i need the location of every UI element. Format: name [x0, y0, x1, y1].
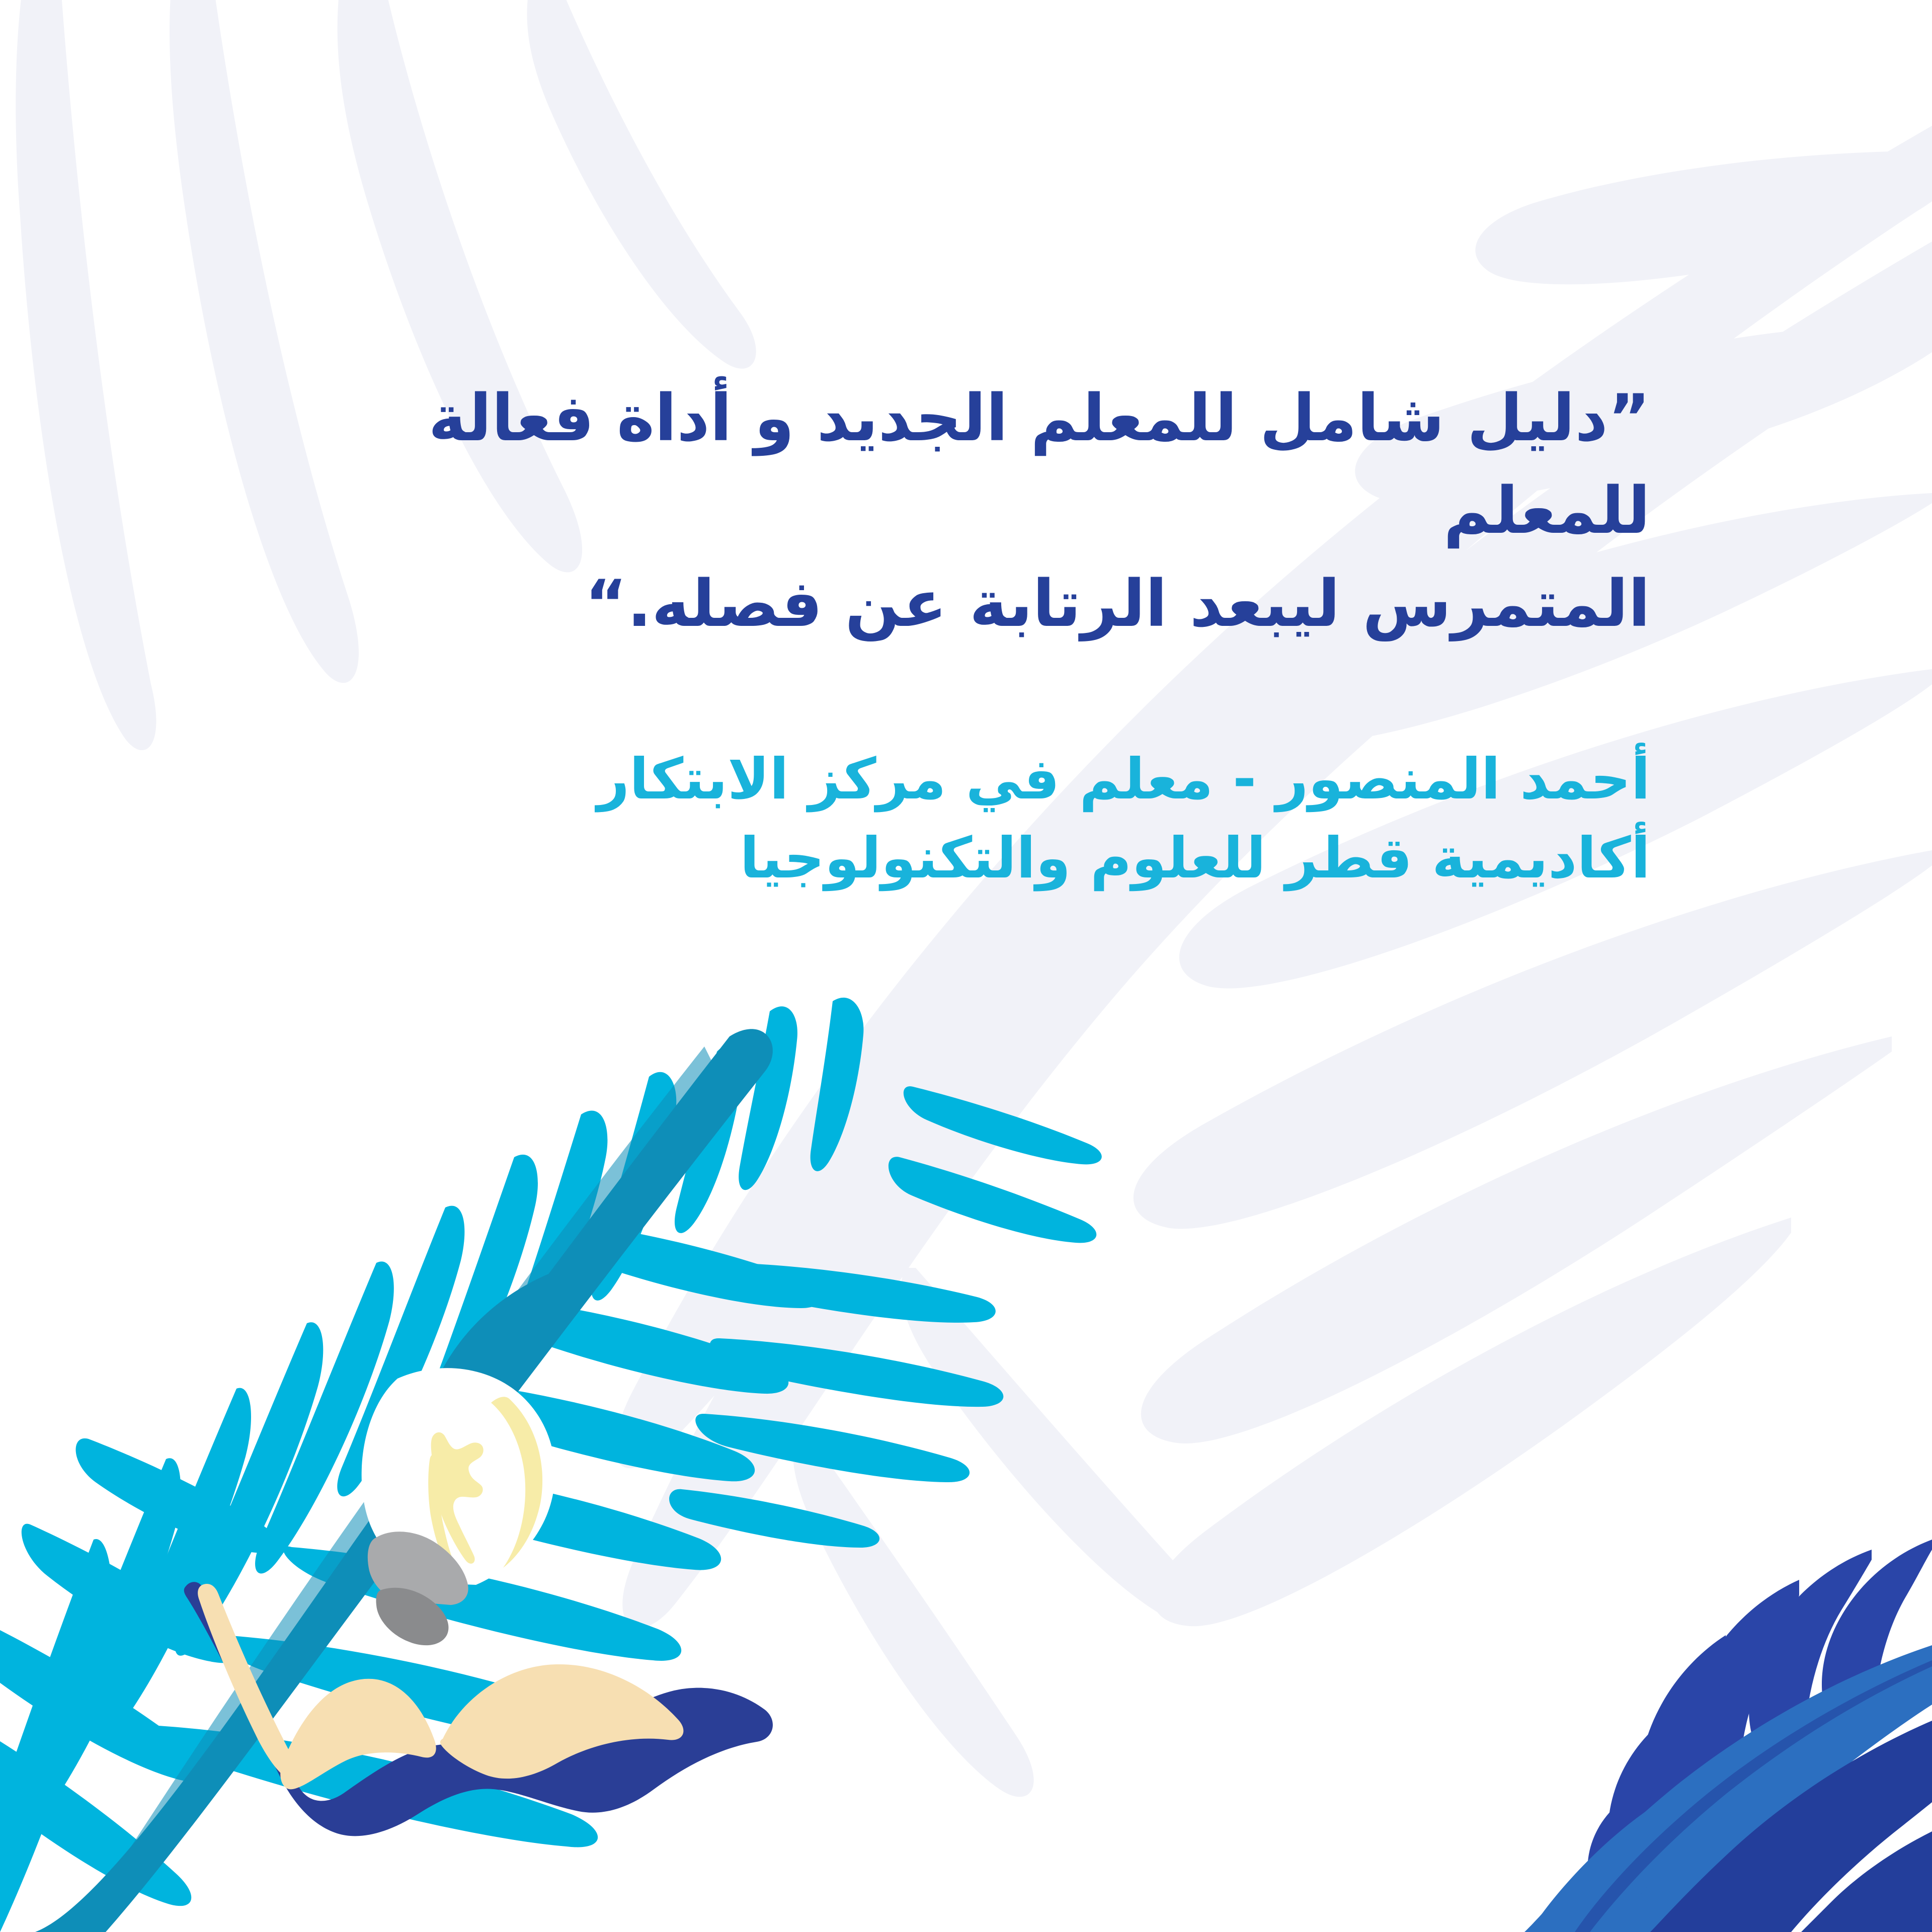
quill-stem: [35, 1029, 773, 1932]
quote-card: ”دليل شامل للمعلم الجديد و أداة فعالة لل…: [0, 0, 1932, 1932]
lightbulb-icon: [362, 1368, 555, 1645]
attribution-name-role: أحمد المنصور - معلم في مركز الابتكار: [231, 740, 1650, 819]
quote-content: ”دليل شامل للمعلم الجديد و أداة فعالة لل…: [231, 372, 1650, 898]
palm-leaf-blades: [0, 998, 1102, 1932]
quill-book-illustration: [0, 0, 1932, 1932]
background-watermark-layer: [0, 0, 1932, 1932]
quote-text: ”دليل شامل للمعلم الجديد و أداة فعالة لل…: [231, 372, 1650, 651]
corner-palm-frond: [0, 0, 1932, 1932]
attribution-block: أحمد المنصور - معلم في مركز الابتكار أكا…: [231, 740, 1650, 898]
attribution-organization: أكاديمية قطر للعلوم والتكنولوجيا: [231, 819, 1650, 898]
open-book-icon: [184, 1582, 773, 1836]
